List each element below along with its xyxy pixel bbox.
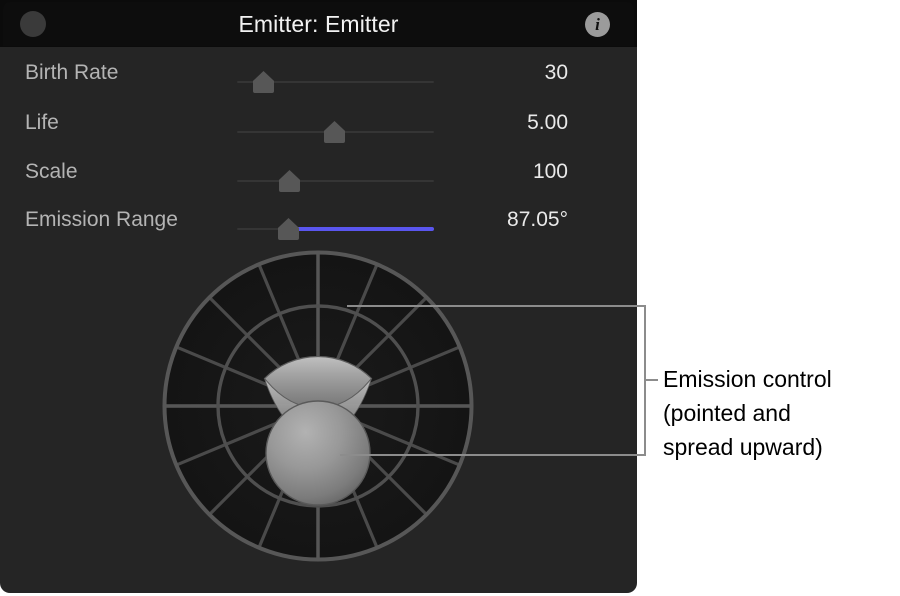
- callout-text: Emission control (pointed and spread upw…: [663, 362, 893, 464]
- emitter-inspector-panel: Emitter: Emitter i Birth Rate 30 Life 5.…: [0, 0, 637, 593]
- panel-titlebar: Emitter: Emitter i: [0, 0, 637, 47]
- parameter-value[interactable]: 100: [380, 157, 568, 187]
- emission-direction-handle[interactable]: [266, 401, 370, 505]
- panel-title: Emitter: Emitter: [0, 11, 637, 38]
- slider-thumb[interactable]: [278, 218, 299, 240]
- parameter-row-life: Life 5.00: [0, 108, 637, 156]
- parameter-label: Scale: [25, 157, 78, 187]
- slider-thumb[interactable]: [253, 71, 274, 93]
- parameter-label: Emission Range: [25, 205, 178, 235]
- parameter-row-scale: Scale 100: [0, 157, 637, 205]
- parameter-label: Birth Rate: [25, 58, 118, 88]
- parameter-value[interactable]: 30: [380, 58, 568, 88]
- info-icon[interactable]: i: [585, 12, 610, 37]
- parameter-row-birth-rate: Birth Rate 30: [0, 58, 637, 106]
- callout-line-3: spread upward): [663, 430, 893, 464]
- slider-thumb[interactable]: [324, 121, 345, 143]
- callout-line-2: (pointed and: [663, 396, 893, 430]
- parameter-label: Life: [25, 108, 59, 138]
- callout-line-1: Emission control: [663, 362, 893, 396]
- parameter-row-emission-range: Emission Range 87.05°: [0, 205, 637, 253]
- parameter-value[interactable]: 87.05°: [380, 205, 568, 235]
- emission-dial[interactable]: [160, 248, 476, 564]
- parameter-value[interactable]: 5.00: [380, 108, 568, 138]
- slider-thumb[interactable]: [279, 170, 300, 192]
